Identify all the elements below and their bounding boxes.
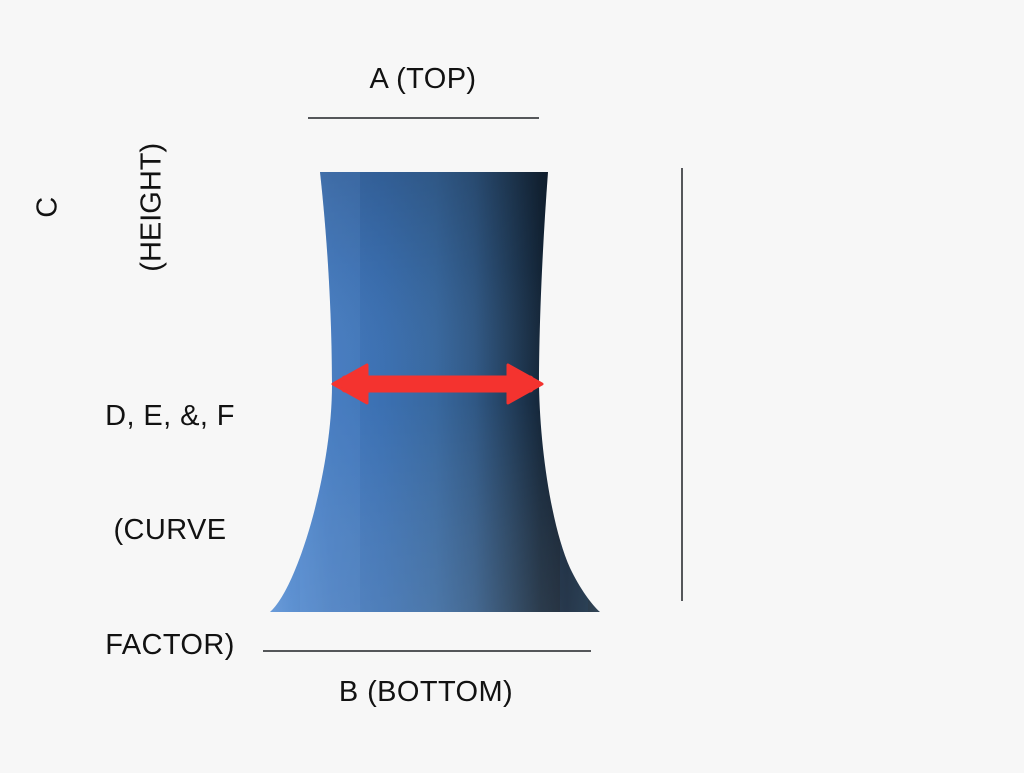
curve-factor-line-3: FACTOR) <box>20 626 320 664</box>
diagram-canvas: A (TOP) <box>0 0 1024 768</box>
label-b-bottom: B (BOTTOM) <box>0 673 852 711</box>
curve-factor-line-1: D, E, &, F <box>20 397 320 435</box>
height-letter: C <box>29 77 67 337</box>
height-word: (HEIGHT) <box>133 77 171 337</box>
height-measure-line <box>681 168 683 601</box>
label-c-height: C (HEIGHT) <box>0 0 260 180</box>
curve-factor-arrow <box>325 355 550 415</box>
bottom-measure-line <box>263 650 591 652</box>
top-measure-line <box>308 117 539 119</box>
curve-factor-line-2: (CURVE <box>20 511 320 549</box>
